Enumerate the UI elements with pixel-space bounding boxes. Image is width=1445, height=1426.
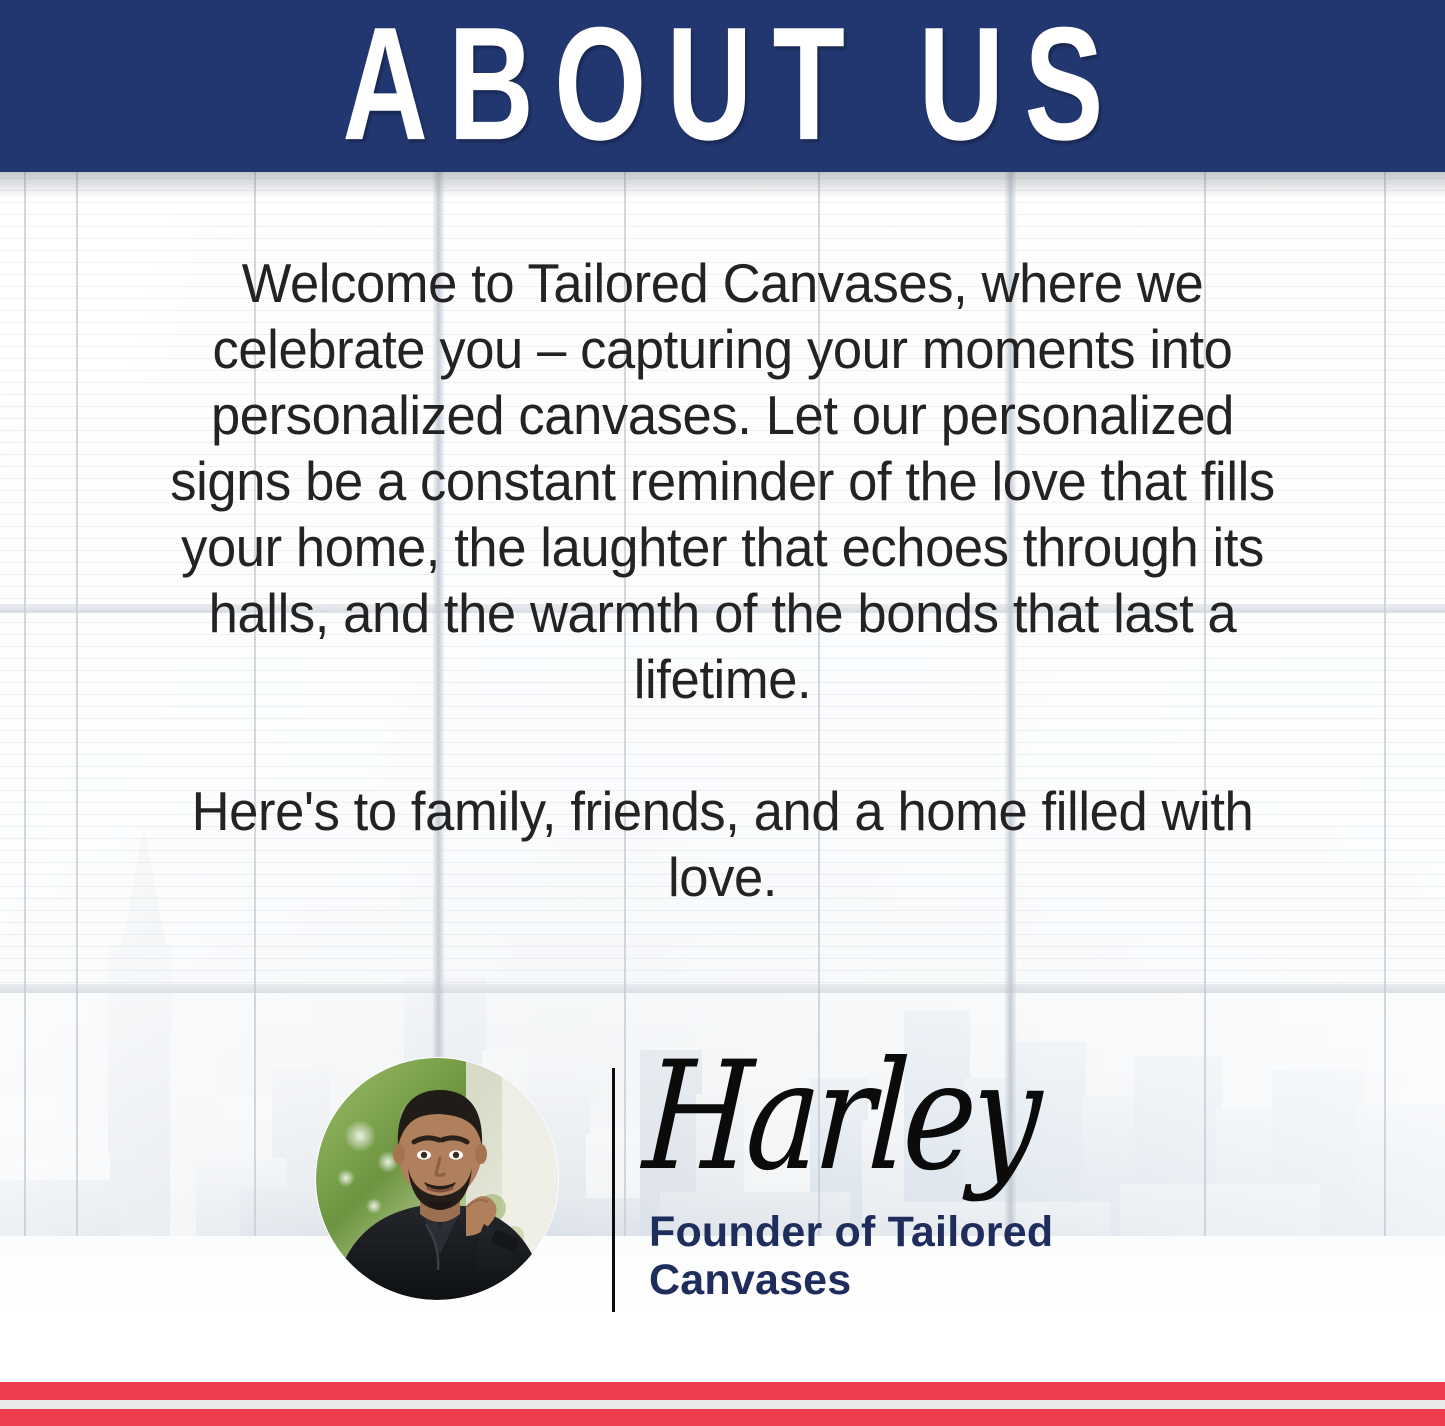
header-banner: ABOUT US [0,0,1445,172]
paragraph-intro: Welcome to Tailored Canvases, where we c… [166,250,1279,712]
header-drop-shadow [0,172,1445,198]
founder-role-line-2: Canvases [649,1256,851,1304]
footer-stripe-bottom [0,1409,1445,1426]
page-title: ABOUT US [322,5,1124,164]
founder-role: Founder of Tailored Canvases [649,1208,1119,1304]
signature-text: Harley Founder of Tailored Canvases [649,1048,1129,1304]
footer-stripe-top [0,1382,1445,1400]
avatar [316,1058,558,1300]
paragraph-closing: Here's to family, friends, and a home fi… [166,778,1279,910]
about-us-card: ABOUT US Welcome to Tailored Canvases, w… [0,0,1445,1426]
footer-stripe-gap [0,1400,1445,1409]
content-area: Welcome to Tailored Canvases, where we c… [0,172,1445,910]
about-copy: Welcome to Tailored Canvases, where we c… [166,250,1279,910]
founder-name-script: Harley [640,1042,1042,1192]
founder-signature-block: Harley Founder of Tailored Canvases [0,1048,1445,1348]
founder-role-line-1: Founder of Tailored [649,1208,1053,1256]
signature-divider [612,1068,615,1312]
